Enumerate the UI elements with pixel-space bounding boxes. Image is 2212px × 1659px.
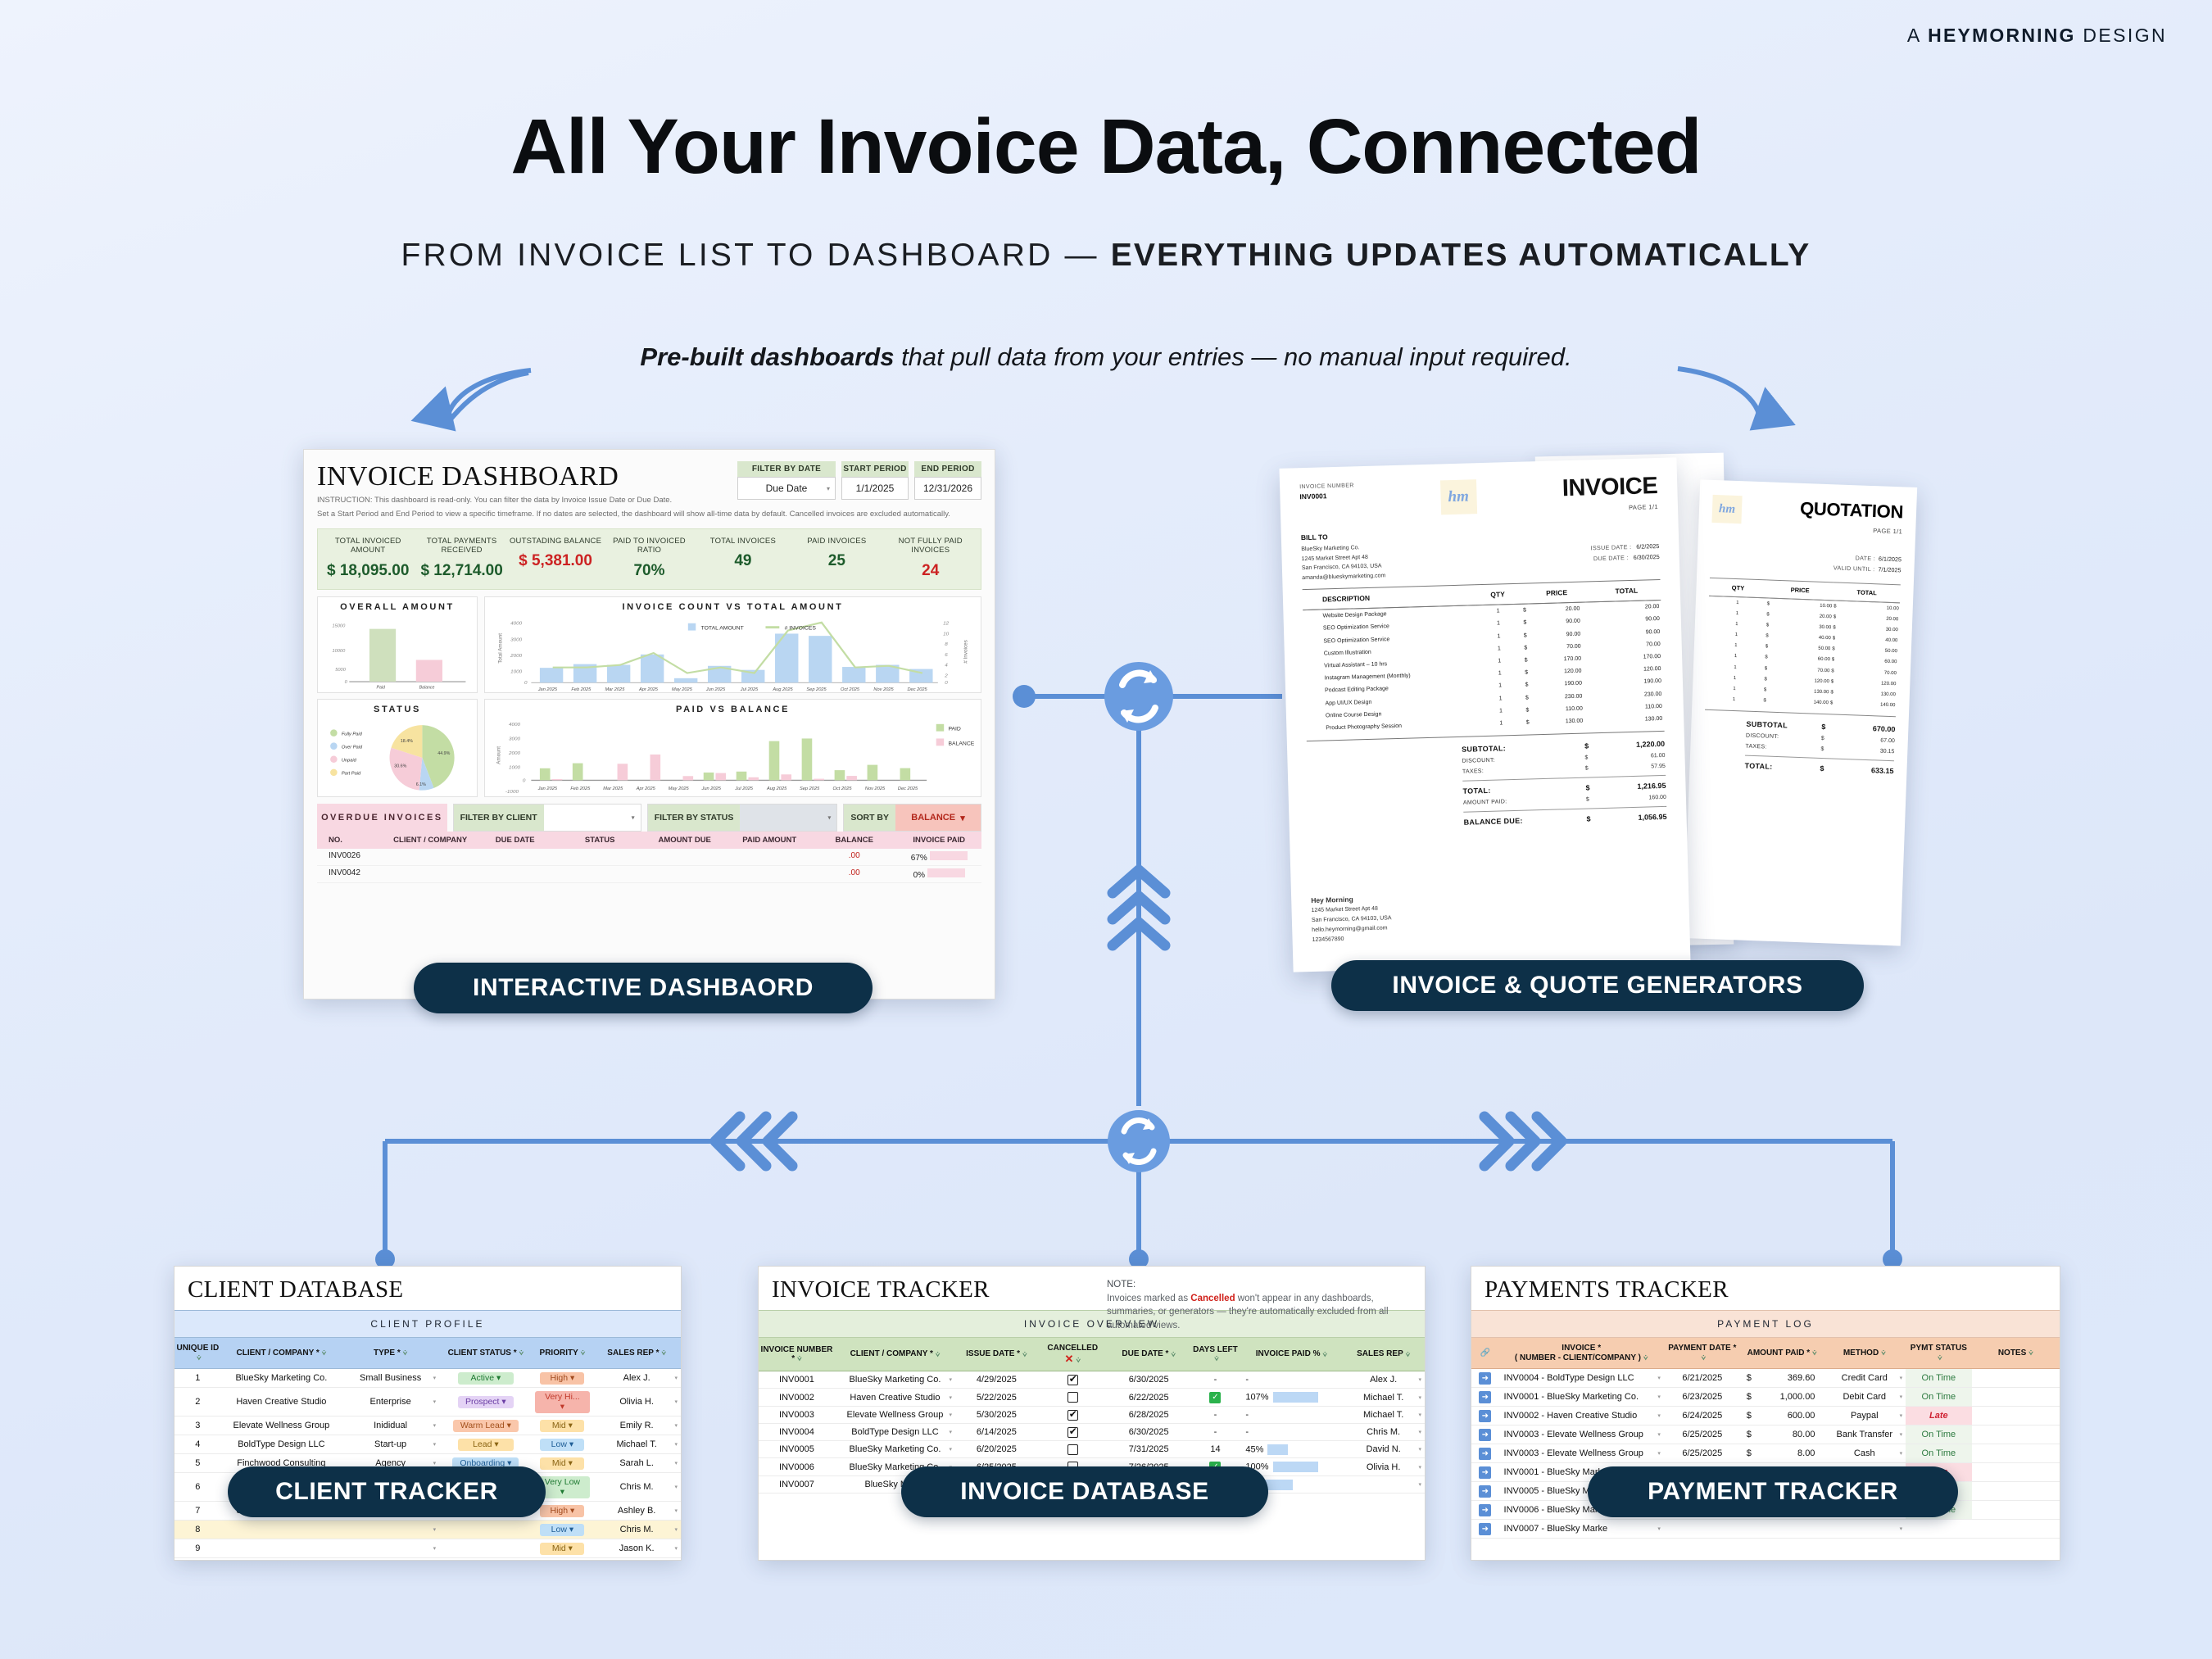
pay-invoice[interactable]: INV0007 - BlueSky Marke▾ xyxy=(1499,1520,1664,1539)
priority-badge: Mid ▾ xyxy=(540,1457,584,1470)
quote-taxes-label: TAXES: xyxy=(1745,743,1820,751)
table-row: INV0042 .00 0% xyxy=(317,866,981,883)
filter-icon[interactable]: ⩒ xyxy=(797,1354,801,1362)
chevron-down-icon: ▾ xyxy=(674,1526,678,1533)
overdue-col: BALANCE xyxy=(812,836,897,845)
svg-text:Unpaid: Unpaid xyxy=(342,759,357,764)
pay-method[interactable]: Debit Card▾ xyxy=(1823,1388,1906,1407)
from-name: Hey Morning xyxy=(1311,895,1353,904)
pay-invoice[interactable]: INV0003 - Elevate Wellness Group▾ xyxy=(1499,1444,1664,1463)
pay-notes[interactable] xyxy=(1972,1463,2060,1482)
chevron-down-icon: ▾ xyxy=(950,1429,953,1435)
client-rep[interactable]: Alex J.▾ xyxy=(592,1369,681,1388)
icol-qty: QTY xyxy=(1474,583,1521,605)
filter-icon[interactable]: ⩒ xyxy=(936,1350,940,1358)
pay-date[interactable]: 6/25/2025 xyxy=(1664,1426,1741,1444)
payment-table-header: 🔗INVOICE *( NUMBER - CLIENT/COMPANY )⩒PA… xyxy=(1471,1338,2060,1369)
pay-open-button[interactable]: ➜ xyxy=(1471,1463,1499,1482)
end-period-value[interactable]: 12/31/2026 xyxy=(914,477,981,500)
svg-text:0: 0 xyxy=(524,681,528,687)
client-type[interactable]: ▾ xyxy=(342,1539,439,1558)
inv-paid-pct: 107% xyxy=(1240,1389,1342,1407)
open-icon: ➜ xyxy=(1479,1466,1491,1479)
pill-invoice-database: INVOICE DATABASE xyxy=(901,1466,1268,1517)
svg-text:Nov 2025: Nov 2025 xyxy=(873,688,894,693)
svg-text:6: 6 xyxy=(945,652,948,658)
kpi-item: NOT FULLY PAID INVOICES 24 xyxy=(884,537,977,581)
inv-number: INV0001 xyxy=(759,1371,835,1389)
filter-icon[interactable]: ⩒ xyxy=(1702,1353,1706,1362)
client-priority[interactable]: Low ▾ xyxy=(533,1521,593,1539)
inv-amount-paid-value: 160.00 xyxy=(1607,795,1666,802)
svg-text:2000: 2000 xyxy=(510,653,523,659)
kpi-label: NOT FULLY PAID INVOICES xyxy=(884,537,977,556)
pay-method[interactable]: ▾ xyxy=(1823,1520,1906,1539)
page-subtitle: FROM INVOICE LIST TO DASHBOARD — EVERYTH… xyxy=(0,238,2212,274)
kpi-label: PAID INVOICES xyxy=(790,537,883,546)
svg-text:Aug 2025: Aug 2025 xyxy=(772,688,793,693)
client-priority[interactable]: High ▾ xyxy=(533,1369,593,1388)
pay-amount: $8.00 xyxy=(1741,1444,1824,1463)
inv-client[interactable]: BoldType Design LLC▾ xyxy=(835,1424,955,1441)
open-icon: ➜ xyxy=(1479,1523,1491,1535)
filter-icon[interactable]: ⩒ xyxy=(403,1349,407,1357)
client-name: Haven Creative Studio xyxy=(221,1388,342,1416)
quotation-valid: 7/1/2025 xyxy=(1878,565,1901,573)
note-label: NOTE: xyxy=(1107,1278,1410,1292)
svg-text:Jan 2025: Jan 2025 xyxy=(537,787,558,792)
chevron-down-icon: ▾ xyxy=(674,1398,678,1405)
pill-invoice-quote-generators: INVOICE & QUOTE GENERATORS xyxy=(1331,960,1864,1011)
inv-rep[interactable]: ▾ xyxy=(1342,1476,1425,1494)
dashboard-filters: FILTER BY DATE Due Date▾ START PERIOD 1/… xyxy=(737,461,981,500)
due-date: 6/30/2025 xyxy=(1634,553,1660,561)
inv-cancelled[interactable] xyxy=(1038,1441,1108,1458)
checkbox[interactable] xyxy=(1067,1427,1078,1438)
filter-by-client-value[interactable]: ▾ xyxy=(544,805,641,831)
svg-text:12: 12 xyxy=(943,621,950,627)
table-row: 4 BoldType Design LLC Start-up▾ Lead ▾ L… xyxy=(175,1435,681,1454)
svg-text:1000: 1000 xyxy=(510,669,523,675)
pay-invoice[interactable]: INV0003 - Elevate Wellness Group▾ xyxy=(1499,1426,1664,1444)
priority-badge: Mid ▾ xyxy=(540,1420,584,1432)
inv-number: INV0003 xyxy=(759,1407,835,1424)
svg-text:Dec 2025: Dec 2025 xyxy=(898,787,918,792)
client-status[interactable] xyxy=(439,1539,532,1558)
inv-client[interactable]: BlueSky Marketing Co.▾ xyxy=(835,1441,955,1458)
invoice-col: DUE DATE *⩒ xyxy=(1108,1338,1190,1371)
pay-method[interactable]: Cash▾ xyxy=(1823,1444,1906,1463)
overdue-col: DUE DATE xyxy=(473,836,558,845)
chart-invoice-count-vs-total: INVOICE COUNT VS TOTAL AMOUNT 4000300020… xyxy=(484,596,981,693)
pay-amount: $1,000.00 xyxy=(1741,1388,1824,1407)
svg-text:3000: 3000 xyxy=(509,737,521,742)
invoice-dates: ISSUE DATE : 6/2/2025 DUE DATE : 6/30/20… xyxy=(1590,542,1660,575)
payment-group-header: PAYMENT LOG xyxy=(1471,1310,2060,1338)
svg-text:Oct 2025: Oct 2025 xyxy=(841,688,860,693)
note-part-a: Invoices marked as xyxy=(1107,1294,1190,1303)
inv-amount-paid-label: AMOUNT PAID: xyxy=(1463,797,1586,806)
svg-text:1000: 1000 xyxy=(509,765,521,771)
svg-text:# Invoices: # Invoices xyxy=(963,640,968,664)
filter-icon[interactable]: ⩒ xyxy=(1022,1350,1027,1358)
payment-col: PAYMENT DATE *⩒ xyxy=(1664,1338,1741,1369)
chart-status-title: STATUS xyxy=(324,705,470,714)
filter-by-client[interactable]: FILTER BY CLIENT ▾ xyxy=(453,804,641,832)
inv-issue-date[interactable]: 4/29/2025 xyxy=(955,1371,1038,1389)
inv-issue-date[interactable]: 6/20/2025 xyxy=(955,1441,1038,1458)
chevron-down-icon: ▾ xyxy=(1418,1464,1421,1471)
inv-due-date[interactable]: 7/31/2025 xyxy=(1108,1441,1190,1458)
client-status[interactable]: Active ▾ xyxy=(439,1369,532,1388)
svg-text:15000: 15000 xyxy=(332,624,346,629)
pay-notes[interactable] xyxy=(1972,1501,2060,1520)
inv-due-date[interactable]: 6/28/2025 xyxy=(1108,1407,1190,1424)
svg-text:Mar 2025: Mar 2025 xyxy=(603,787,623,792)
filter-by-date-value[interactable]: Due Date▾ xyxy=(737,477,836,500)
open-icon: ➜ xyxy=(1479,1485,1491,1498)
client-priority[interactable]: Mid ▾ xyxy=(533,1416,593,1435)
invoice-document: INVOICE NUMBER INV0001 hm INVOICE PAGE 1… xyxy=(1280,457,1691,972)
filter-icon[interactable]: ⩒ xyxy=(1322,1350,1326,1358)
checkbox[interactable] xyxy=(1067,1392,1078,1403)
client-priority[interactable]: Low ▾ xyxy=(533,1435,593,1454)
filter-icon[interactable]: ⩒ xyxy=(661,1349,665,1357)
checkbox[interactable] xyxy=(1067,1375,1078,1385)
chart-overall-amount: OVERALL AMOUNT 15000 10000 5000 0 Paid B… xyxy=(317,596,478,693)
client-type[interactable]: ▾ xyxy=(342,1521,439,1539)
pay-method[interactable]: Credit Card▾ xyxy=(1823,1369,1906,1388)
inv-issue-date[interactable]: 6/14/2025 xyxy=(955,1424,1038,1441)
pay-date[interactable]: 6/21/2025 xyxy=(1664,1369,1741,1388)
payment-col: INVOICE *( NUMBER - CLIENT/COMPANY )⩒ xyxy=(1499,1338,1664,1369)
svg-text:Feb 2025: Feb 2025 xyxy=(570,787,591,792)
checkbox[interactable] xyxy=(1067,1444,1078,1455)
table-row: 1 BlueSky Marketing Co. Small Business▾ … xyxy=(175,1369,681,1388)
pay-date[interactable]: 6/23/2025 xyxy=(1664,1388,1741,1407)
filter-icon[interactable]: ⩒ xyxy=(1214,1354,1218,1362)
overdue-col: AMOUNT DUE xyxy=(642,836,728,845)
pay-notes[interactable] xyxy=(1972,1407,2060,1426)
filter-by-status-label: FILTER BY STATUS xyxy=(648,805,741,831)
client-rep[interactable]: Chris M.▾ xyxy=(592,1473,681,1502)
svg-text:30.6%: 30.6% xyxy=(394,764,406,769)
chart-paid-vs-balance-svg: 40003000200010000-1000 Amount PAID BALAN… xyxy=(492,716,974,798)
kpi-value: 25 xyxy=(790,552,883,570)
quotation-title: QUOTATION xyxy=(1800,498,1904,524)
chevron-down-icon: ▾ xyxy=(433,1398,437,1405)
kpi-row: TOTAL INVOICED AMOUNT $ 18,095.00 TOTAL … xyxy=(317,528,981,591)
from-address: 1245 Market Street Apt 48San Francisco, … xyxy=(1311,904,1392,945)
pay-invoice[interactable]: INV0001 - BlueSky Marketing Co.▾ xyxy=(1499,1388,1664,1407)
client-type[interactable]: Inididual▾ xyxy=(342,1416,439,1435)
client-type[interactable]: Small Business▾ xyxy=(342,1369,439,1388)
filter-icon[interactable]: ⩒ xyxy=(1406,1350,1410,1358)
inv-client[interactable]: BlueSky Marketing Co.▾ xyxy=(835,1371,955,1389)
client-priority[interactable]: Very Hi... ▾ xyxy=(533,1388,593,1416)
svg-text:Total Amount: Total Amount xyxy=(497,633,503,664)
table-row: 2 Haven Creative Studio Enterprise▾ Pros… xyxy=(175,1388,681,1416)
filter-icon[interactable]: ⩒ xyxy=(322,1349,326,1357)
filter-icon[interactable]: ⩒ xyxy=(1171,1350,1175,1358)
svg-text:Dec 2025: Dec 2025 xyxy=(907,688,927,693)
pay-open-button[interactable]: ➜ xyxy=(1471,1520,1499,1539)
chevron-down-icon: ▾ xyxy=(1657,1375,1661,1381)
invoice-table-header: INVOICE NUMBER *⩒CLIENT / COMPANY *⩒ISSU… xyxy=(759,1338,1425,1371)
pay-method[interactable]: Bank Transfer▾ xyxy=(1823,1426,1906,1444)
start-period-label: START PERIOD xyxy=(841,461,909,477)
client-col: SALES REP *⩒ xyxy=(592,1338,681,1369)
svg-text:Sep 2025: Sep 2025 xyxy=(806,688,827,693)
inv-taxes-label: TAXES: xyxy=(1462,766,1585,775)
svg-text:-1000: -1000 xyxy=(505,790,519,796)
svg-text:10: 10 xyxy=(943,632,950,637)
client-rep[interactable]: Michael T.▾ xyxy=(592,1435,681,1454)
inv-due-date[interactable]: 6/30/2025 xyxy=(1108,1371,1190,1389)
inv-due-date[interactable]: 6/22/2025 xyxy=(1108,1389,1190,1407)
kpi-item: TOTAL INVOICES 49 xyxy=(696,537,790,581)
inv-paid-pct: - xyxy=(1240,1371,1342,1389)
filter-icon[interactable]: ⩒ xyxy=(197,1353,201,1362)
quotation-document: hm QUOTATION PAGE 1/1 DATE : 6/1/2025 VA… xyxy=(1684,479,1917,945)
item-qty: 1 xyxy=(1475,604,1521,618)
filter-icon[interactable]: ⩒ xyxy=(519,1349,524,1357)
kpi-value: $ 5,381.00 xyxy=(509,552,602,570)
pay-notes[interactable] xyxy=(1972,1482,2060,1501)
invoice-col: CANCELLED✕⩒ xyxy=(1038,1338,1108,1371)
filter-icon[interactable]: ⩒ xyxy=(1812,1349,1816,1357)
client-id: 6 xyxy=(175,1473,221,1502)
start-period-field[interactable]: START PERIOD 1/1/2025 xyxy=(841,461,909,500)
pay-notes[interactable] xyxy=(1972,1426,2060,1444)
svg-text:0: 0 xyxy=(523,778,526,784)
client-status[interactable]: Lead ▾ xyxy=(439,1435,532,1454)
inv-days-left: - xyxy=(1190,1424,1240,1441)
checkbox[interactable] xyxy=(1067,1410,1078,1421)
client-rep[interactable]: Emily R.▾ xyxy=(592,1416,681,1435)
pay-notes[interactable] xyxy=(1972,1369,2060,1388)
pay-date[interactable]: 6/24/2025 xyxy=(1664,1407,1741,1426)
inv-rep[interactable]: Michael T.▾ xyxy=(1342,1407,1425,1424)
overdue-table-header: NO.CLIENT / COMPANYDUE DATESTATUSAMOUNT … xyxy=(317,832,981,849)
client-status[interactable]: Warm Lead ▾ xyxy=(439,1416,532,1435)
inv-cancelled[interactable] xyxy=(1038,1389,1108,1407)
svg-text:4: 4 xyxy=(945,663,948,669)
curved-arrow-left-2 xyxy=(447,370,531,424)
client-id: 1 xyxy=(175,1369,221,1388)
inv-rep[interactable]: Michael T.▾ xyxy=(1342,1389,1425,1407)
payment-col: METHOD⩒ xyxy=(1823,1338,1906,1369)
client-priority[interactable]: Mid ▾ xyxy=(533,1454,593,1473)
chevron-down-icon: ▾ xyxy=(950,1446,953,1453)
chevron-down-icon: ▾ xyxy=(950,1376,953,1383)
note-bold: Cancelled xyxy=(1190,1294,1235,1303)
client-table-header: UNIQUE ID⩒CLIENT / COMPANY *⩒TYPE *⩒CLIE… xyxy=(175,1338,681,1369)
issue-date-label: ISSUE DATE : xyxy=(1590,543,1631,551)
charts-row-2: STATUS Fully Paid Over Paid Unpaid Part … xyxy=(317,699,981,797)
inv-rep[interactable]: Olivia H.▾ xyxy=(1342,1458,1425,1476)
open-icon: ➜ xyxy=(1479,1429,1491,1441)
inv-rep[interactable]: Chris M.▾ xyxy=(1342,1424,1425,1441)
table-row: INV0003 Elevate Wellness Group▾ 5/30/202… xyxy=(759,1407,1425,1424)
inv-cancelled[interactable] xyxy=(1038,1407,1108,1424)
pay-notes[interactable] xyxy=(1972,1444,2060,1463)
pay-open-button[interactable]: ➜ xyxy=(1471,1444,1499,1463)
inv-cancelled[interactable] xyxy=(1038,1371,1108,1389)
inv-rep[interactable]: Alex J.▾ xyxy=(1342,1371,1425,1389)
overdue-col: STATUS xyxy=(557,836,642,845)
inv-discount-label: DISCOUNT: xyxy=(1462,755,1584,764)
client-rep[interactable]: Jason K.▾ xyxy=(592,1539,681,1558)
quotation-page: PAGE 1/1 xyxy=(1799,524,1902,536)
filter-by-status[interactable]: FILTER BY STATUS ▾ xyxy=(647,804,838,832)
pay-method[interactable]: Paypal▾ xyxy=(1823,1407,1906,1426)
pay-open-button[interactable]: ➜ xyxy=(1471,1482,1499,1501)
check-icon: ✓ xyxy=(1209,1392,1221,1403)
svg-text:Apr 2025: Apr 2025 xyxy=(636,787,656,792)
chevron-down-icon: ▾ xyxy=(433,1545,437,1552)
svg-text:Nov 2025: Nov 2025 xyxy=(865,787,886,792)
chevron-down-icon: ▾ xyxy=(1418,1446,1421,1453)
filter-icon[interactable]: ⩒ xyxy=(1076,1356,1080,1364)
pay-amount: $80.00 xyxy=(1741,1426,1824,1444)
client-id: 3 xyxy=(175,1416,221,1435)
inv-number: INV0006 xyxy=(759,1458,835,1476)
item-qty: 1 xyxy=(1475,641,1522,655)
brand-name: HEYMORNING xyxy=(1928,25,2075,46)
quote-total-value: 633.15 xyxy=(1841,765,1893,775)
client-rep[interactable]: Olivia H.▾ xyxy=(592,1388,681,1416)
pill-payment-tracker: PAYMENT TRACKER xyxy=(1588,1466,1958,1517)
pay-amount: $600.00 xyxy=(1741,1407,1824,1426)
inv-rep[interactable]: David N.▾ xyxy=(1342,1441,1425,1458)
inv-number: INV0007 xyxy=(759,1476,835,1494)
filter-icon[interactable]: ⩒ xyxy=(2028,1349,2033,1357)
pay-status: On Time xyxy=(1906,1426,1972,1444)
priority-badge: Low ▾ xyxy=(540,1524,584,1536)
filter-by-date[interactable]: FILTER BY DATE Due Date▾ xyxy=(737,461,836,500)
invoice-col: INVOICE NUMBER *⩒ xyxy=(759,1338,835,1371)
inv-days-left: 14 xyxy=(1190,1441,1240,1458)
client-rep[interactable]: Ashley B.▾ xyxy=(592,1502,681,1521)
end-period-field[interactable]: END PERIOD 12/31/2026 xyxy=(914,461,981,500)
client-group-header: CLIENT PROFILE xyxy=(175,1310,681,1338)
svg-text:Aug 2025: Aug 2025 xyxy=(766,787,787,792)
client-priority[interactable]: Mid ▾ xyxy=(533,1539,593,1558)
chart-invoice-count-svg: 40003000200010000 121086420 Total Amount… xyxy=(492,614,974,694)
client-rep[interactable]: Chris M.▾ xyxy=(592,1521,681,1539)
client-sheet-title: CLIENT DATABASE xyxy=(175,1267,681,1310)
kpi-item: PAID INVOICES 25 xyxy=(790,537,883,581)
inv-subtotal-label: SUBTOTAL: xyxy=(1462,742,1584,754)
client-type[interactable]: Enterprise▾ xyxy=(342,1388,439,1416)
pay-invoice[interactable]: INV0004 - BoldType Design LLC▾ xyxy=(1499,1369,1664,1388)
chevron-down-icon: ▾ xyxy=(433,1441,437,1448)
inv-issue-date[interactable]: 5/22/2025 xyxy=(955,1389,1038,1407)
chevron-down-icon: ▾ xyxy=(960,813,965,823)
svg-text:5000: 5000 xyxy=(335,668,346,673)
svg-text:0: 0 xyxy=(345,680,348,685)
svg-text:Jun 2025: Jun 2025 xyxy=(705,688,726,693)
client-rep[interactable]: Sarah L.▾ xyxy=(592,1454,681,1473)
bill-to-label: BILL TO xyxy=(1301,531,1385,542)
quote-discount-label: DISCOUNT: xyxy=(1746,732,1821,741)
inv-client[interactable]: Elevate Wellness Group▾ xyxy=(835,1407,955,1424)
pay-open-button[interactable]: ➜ xyxy=(1471,1501,1499,1520)
status-badge: On Time xyxy=(1922,1392,1956,1402)
client-type[interactable]: Start-up▾ xyxy=(342,1435,439,1454)
svg-text:Jul 2025: Jul 2025 xyxy=(734,787,753,792)
pay-open-button[interactable]: ➜ xyxy=(1471,1388,1499,1407)
chevron-down-icon: ▾ xyxy=(1657,1412,1661,1419)
pay-open-button[interactable]: ➜ xyxy=(1471,1426,1499,1444)
svg-text:Fully Paid: Fully Paid xyxy=(342,732,363,737)
pay-notes[interactable] xyxy=(1972,1388,2060,1407)
filter-icon[interactable]: ⩒ xyxy=(1938,1353,1942,1362)
client-name xyxy=(221,1539,342,1558)
chart-overall-amount-title: OVERALL AMOUNT xyxy=(324,602,470,612)
kpi-item: PAID TO INVOICED RATIO 70% xyxy=(602,537,696,581)
inv-client[interactable]: Haven Creative Studio▾ xyxy=(835,1389,955,1407)
client-status[interactable]: Prospect ▾ xyxy=(439,1388,532,1416)
svg-text:PAID: PAID xyxy=(948,727,961,732)
overdue-paid-pct: 67% xyxy=(896,851,981,863)
filter-icon[interactable]: ⩒ xyxy=(1881,1349,1885,1357)
client-status[interactable] xyxy=(439,1521,532,1539)
chevron-down-icon: ▾ xyxy=(433,1422,437,1429)
pay-open-button[interactable]: ➜ xyxy=(1471,1369,1499,1388)
status-badge: Lead ▾ xyxy=(458,1439,514,1451)
table-row: 9 ▾ Mid ▾ Jason K.▾ xyxy=(175,1539,681,1558)
pay-date[interactable] xyxy=(1664,1520,1741,1539)
filter-by-client-label: FILTER BY CLIENT xyxy=(454,805,544,831)
svg-text:# INVOICES: # INVOICES xyxy=(785,626,817,632)
status-badge: On Time xyxy=(1922,1448,1956,1458)
client-col: UNIQUE ID⩒ xyxy=(175,1338,221,1369)
svg-text:2000: 2000 xyxy=(508,751,521,757)
annotation-rest: that pull data from your entries — no ma… xyxy=(894,342,1571,371)
pay-notes[interactable] xyxy=(1972,1520,2060,1539)
table-row: INV0005 BlueSky Marketing Co.▾ 6/20/2025… xyxy=(759,1441,1425,1458)
filter-by-status-value[interactable]: ▾ xyxy=(740,805,836,831)
inv-number: INV0002 xyxy=(759,1389,835,1407)
issue-date: 6/2/2025 xyxy=(1636,542,1659,551)
item-qty: 1 xyxy=(1476,667,1523,681)
pay-invoice[interactable]: INV0002 - Haven Creative Studio▾ xyxy=(1499,1407,1664,1426)
inv-due-date[interactable]: 6/30/2025 xyxy=(1108,1424,1190,1441)
filter-icon[interactable]: ⩒ xyxy=(1643,1353,1648,1362)
brand-prefix: A xyxy=(1907,25,1928,46)
inv-issue-date[interactable]: 5/30/2025 xyxy=(955,1407,1038,1424)
sort-by-value[interactable]: BALANCE ▾ xyxy=(895,805,981,831)
svg-text:BALANCE: BALANCE xyxy=(948,741,974,747)
bus-top-dot xyxy=(1013,685,1036,708)
sync-icon-bottom xyxy=(1108,1110,1170,1172)
pay-date[interactable]: 6/25/2025 xyxy=(1664,1444,1741,1463)
sort-by[interactable]: SORT BY BALANCE ▾ xyxy=(843,804,981,832)
svg-text:4000: 4000 xyxy=(509,722,521,728)
invoice-footer: Hey Morning 1245 Market Street Apt 48San… xyxy=(1311,892,1392,945)
svg-text:Amount: Amount xyxy=(496,746,501,764)
quotation-date: 6/1/2025 xyxy=(1879,555,1902,563)
start-period-value[interactable]: 1/1/2025 xyxy=(841,477,909,500)
chevron-down-icon: ▾ xyxy=(1900,1450,1903,1457)
pay-open-button[interactable]: ➜ xyxy=(1471,1407,1499,1426)
pill-interactive-dashboard: INTERACTIVE DASHBAORD xyxy=(414,963,873,1013)
inv-cancelled[interactable] xyxy=(1038,1424,1108,1441)
kpi-item: OUTSTADING BALANCE $ 5,381.00 xyxy=(509,537,602,581)
filter-icon[interactable]: ⩒ xyxy=(581,1349,585,1357)
